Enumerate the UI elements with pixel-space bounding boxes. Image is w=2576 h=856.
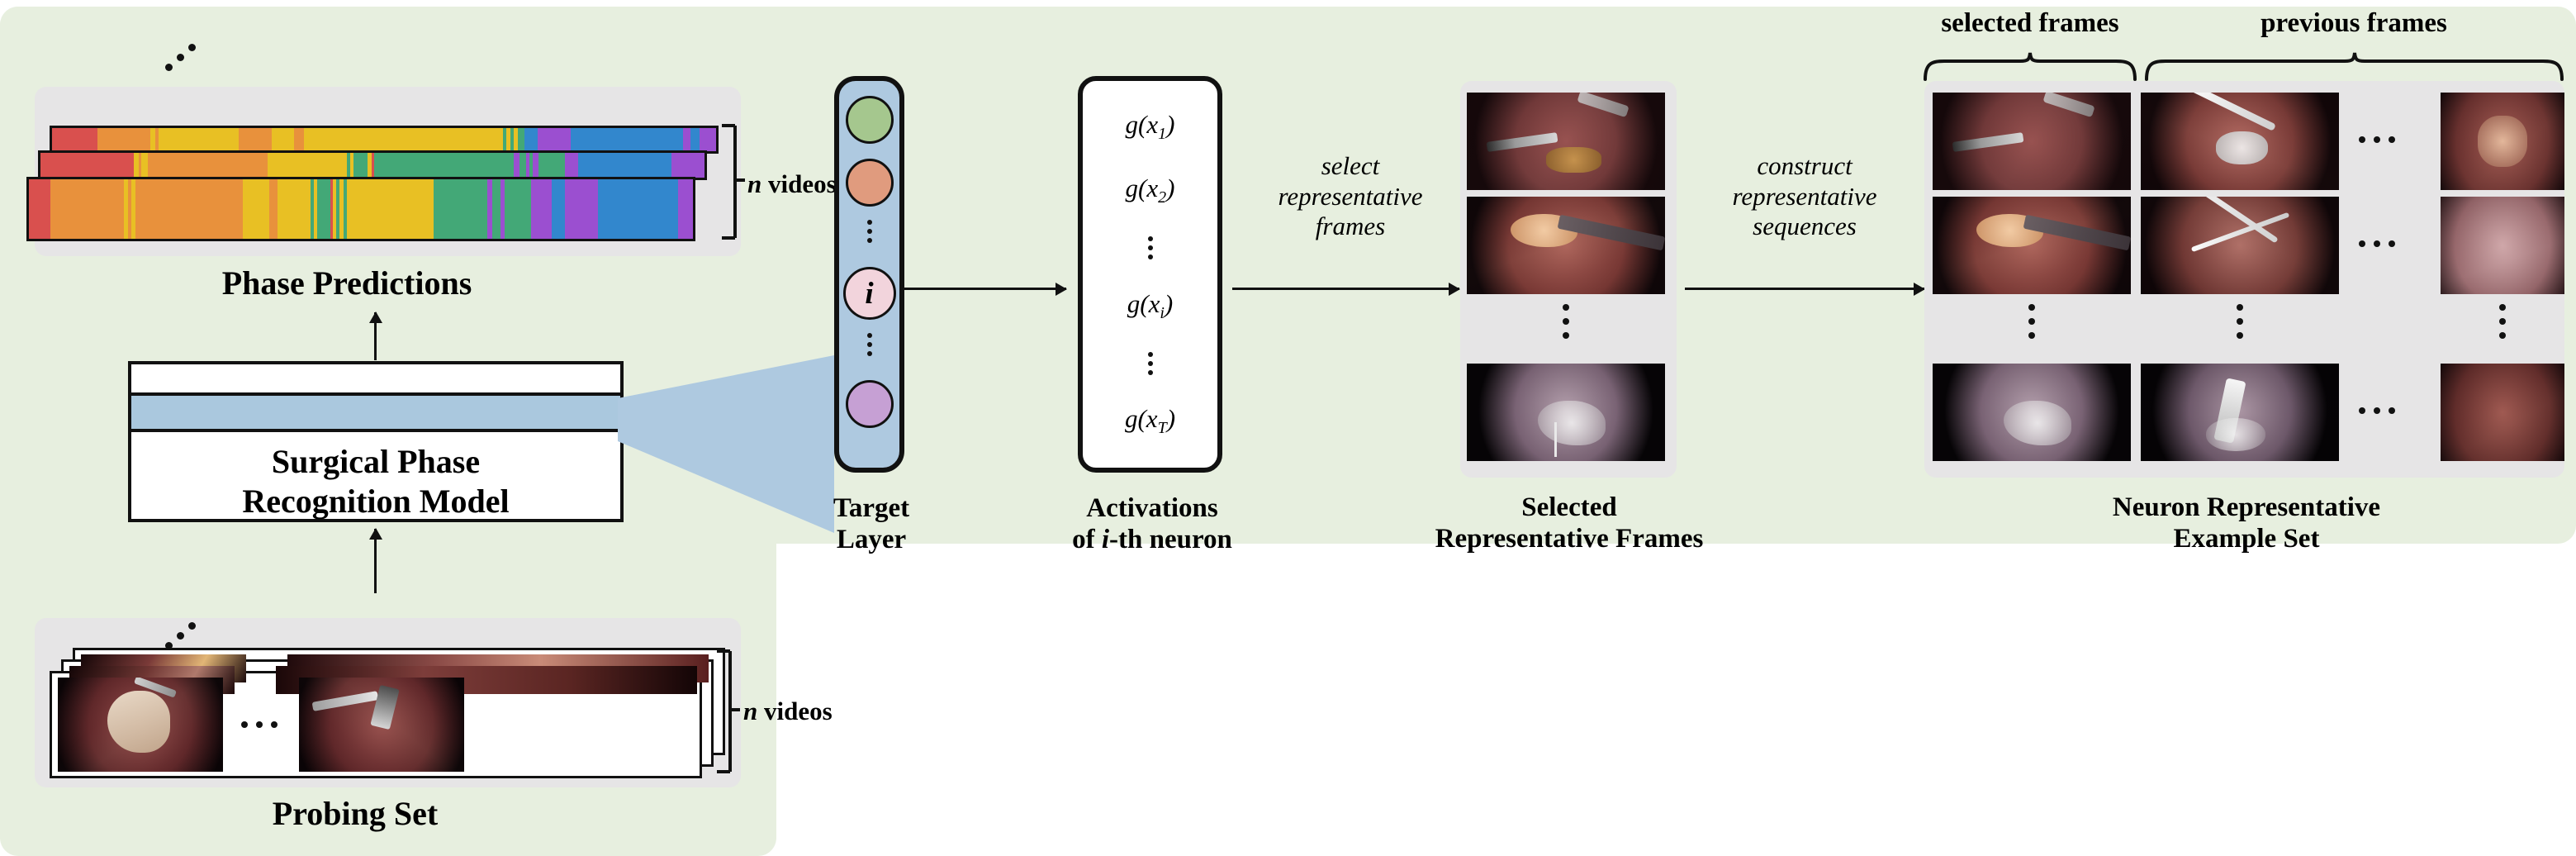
surgical-phase-recognition-model-box: Surgical Phase Recognition Model <box>128 361 624 522</box>
phase-segment <box>598 179 678 239</box>
target-layer-strip <box>131 392 620 432</box>
previous-frames-bracket <box>2144 51 2564 81</box>
seq-row-2-ellipsis <box>2359 240 2395 247</box>
target-layer-title: Target Layer <box>805 493 937 555</box>
seq-frame-r3c3[interactable] <box>2441 364 2564 461</box>
activations-box: g(x1) g(x2) g(xi) g(xT) <box>1078 76 1222 473</box>
phase-segment <box>492 179 500 239</box>
selected-representative-frames-title: Selected Representative Frames <box>1404 492 1734 554</box>
target-layer-ellipsis-upper <box>867 220 872 243</box>
phase-segment <box>531 179 551 239</box>
selected-frame-2[interactable] <box>1467 197 1665 294</box>
phase-segment <box>317 179 330 239</box>
act-base-T: g(x <box>1125 404 1158 433</box>
activations-ellipsis-upper <box>1148 236 1153 259</box>
select-representative-frames-label: selectrepresentativeframes <box>1239 151 1462 242</box>
construct-representative-sequences-label: constructrepresentativesequences <box>1685 151 1924 242</box>
seq-col-1-ellipsis <box>2028 304 2035 339</box>
phase-segment <box>538 128 571 151</box>
activation-item-i: g(xi) <box>1127 289 1173 323</box>
srf-line1: Selected <box>1521 492 1616 522</box>
nres-line2: Example Set <box>2174 524 2320 554</box>
arrow-probing-to-model <box>374 529 377 593</box>
selected-frames-bracket <box>1923 51 2137 81</box>
probing-set-stack-ellipsis <box>165 621 202 649</box>
phase-segment <box>347 179 434 239</box>
selected-frame-1[interactable] <box>1467 93 1665 190</box>
phase-segment <box>159 128 238 151</box>
probing-set-title: Probing Set <box>107 795 603 833</box>
neuron-i-label: i <box>865 276 873 311</box>
n-videos-word-top: videos <box>768 169 837 198</box>
activations-title-line1: Activations <box>1086 493 1218 523</box>
selected-frames-ellipsis <box>1563 304 1569 339</box>
act-sub-2: 2 <box>1158 188 1166 207</box>
phase-prediction-bars <box>0 0 743 264</box>
phase-segment <box>565 153 578 178</box>
phase-segment <box>268 153 347 178</box>
seq-frame-r2c1[interactable] <box>1933 197 2131 294</box>
phase-segment <box>304 128 503 151</box>
phase-segment <box>141 153 148 178</box>
phase-bar-video-1 <box>50 126 719 154</box>
target-layer-box: i <box>834 76 904 473</box>
seq-frame-r2c2[interactable] <box>2141 197 2339 294</box>
phase-segment <box>519 153 526 178</box>
n-videos-n-top: n <box>747 169 761 198</box>
activations-title: Activations of i-th neuron <box>1032 493 1272 555</box>
target-layer-ellipsis-lower <box>867 333 872 356</box>
act-base-1: g(x <box>1126 110 1159 139</box>
act-sub-1: 1 <box>1158 126 1166 144</box>
neuron-i[interactable]: i <box>843 267 896 320</box>
act-sub-i: i <box>1160 304 1165 322</box>
phase-segment <box>434 179 487 239</box>
arrow-into-activations <box>987 288 1066 290</box>
phase-segment <box>505 179 531 239</box>
phase-segment <box>578 153 671 178</box>
n-videos-bracket-bottom <box>715 648 743 778</box>
neuron-2[interactable] <box>846 159 894 207</box>
arrow-construct-representative-sequences <box>1685 288 1924 290</box>
arrow-select-representative-frames <box>1232 288 1459 290</box>
probing-frame-2[interactable] <box>299 678 464 772</box>
phase-segment <box>294 128 303 151</box>
phase-segment <box>524 128 538 151</box>
arrow-model-to-predictions <box>374 312 377 360</box>
neuron-T[interactable] <box>846 380 894 428</box>
seq-frame-r1c1[interactable] <box>1933 93 2131 190</box>
phase-predictions-title: Phase Predictions <box>99 264 595 302</box>
phase-segment <box>700 128 716 151</box>
seq-col-2-ellipsis <box>2237 304 2243 339</box>
phase-segment <box>29 179 50 239</box>
seq-row-3-ellipsis <box>2359 407 2395 414</box>
previous-frames-bracket-label: previous frames <box>2213 8 2494 40</box>
phase-segment <box>518 128 524 151</box>
phase-segment <box>148 153 268 178</box>
phase-bar-video-n <box>26 177 695 241</box>
n-videos-label-bottom: n videos <box>743 697 859 725</box>
phase-segment <box>243 179 269 239</box>
activations-title-line2: of i-th neuron <box>1072 525 1232 554</box>
seq-frame-r2c3[interactable] <box>2441 197 2564 294</box>
phase-segment <box>135 179 242 239</box>
seq-frame-r3c1[interactable] <box>1933 364 2131 461</box>
phase-segment <box>683 128 690 151</box>
seq-col-3-ellipsis <box>2499 304 2506 339</box>
line-neuron-to-activations <box>904 288 987 290</box>
activation-item-T: g(xT) <box>1125 404 1175 438</box>
act-sub-T: T <box>1158 420 1167 438</box>
model-title-line2: Recognition Model <box>242 483 509 520</box>
phase-segment <box>571 128 684 151</box>
phase-segment <box>40 153 134 178</box>
selected-frames-bracket-label: selected frames <box>1890 8 2170 40</box>
phase-segment <box>97 128 150 151</box>
phase-segment <box>272 128 294 151</box>
target-layer-title-line2: Layer <box>837 525 906 554</box>
phase-segment <box>552 179 565 239</box>
seq-frame-r1c3[interactable] <box>2441 93 2564 190</box>
act-base-i: g(x <box>1127 289 1160 318</box>
activations-ellipsis-lower <box>1148 352 1153 375</box>
activation-item-2: g(x2) <box>1126 174 1175 207</box>
activation-item-1: g(x1) <box>1126 110 1175 144</box>
probing-frames-ellipsis <box>241 721 278 728</box>
n-videos-word-bottom: videos <box>764 697 833 725</box>
phase-segment <box>538 153 565 178</box>
phase-segment <box>671 153 704 178</box>
phase-segment <box>374 153 514 178</box>
nres-line1: Neuron Representative <box>2113 492 2380 522</box>
model-title: Surgical Phase Recognition Model <box>131 440 620 523</box>
phase-segment <box>50 179 124 239</box>
srf-line2: Representative Frames <box>1435 524 1704 554</box>
phase-bar-video-2 <box>38 150 707 180</box>
phase-segment <box>269 179 278 239</box>
target-layer-title-line1: Target <box>833 493 909 523</box>
neuron-representative-example-set-title: Neuron Representative Example Set <box>1957 492 2536 554</box>
model-title-line1: Surgical Phase <box>272 443 480 480</box>
act-base-2: g(x <box>1126 174 1159 202</box>
seq-frame-r1c2[interactable] <box>2141 93 2339 190</box>
n-videos-bracket-top <box>720 122 748 246</box>
neuron-1[interactable] <box>846 96 894 144</box>
phase-segment <box>52 128 97 151</box>
seq-frame-r3c2[interactable] <box>2141 364 2339 461</box>
probing-frame-1[interactable] <box>58 678 223 772</box>
phase-segment <box>239 128 272 151</box>
phase-segment <box>353 153 368 178</box>
selected-frame-3[interactable] <box>1467 364 1665 461</box>
n-videos-n-bottom: n <box>743 697 757 725</box>
phase-segment <box>278 179 311 239</box>
phase-segment <box>565 179 598 239</box>
phase-segment <box>678 179 693 239</box>
phase-segment <box>690 128 700 151</box>
seq-row-1-ellipsis <box>2359 136 2395 143</box>
